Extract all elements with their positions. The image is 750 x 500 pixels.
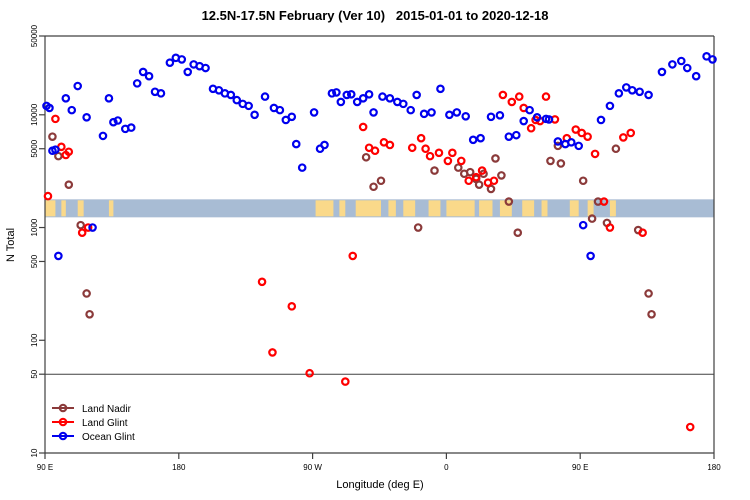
data-point (259, 279, 265, 285)
y-tick-label: 5000 (30, 139, 39, 157)
data-point (455, 164, 461, 170)
data-point (709, 56, 715, 62)
data-point (492, 155, 498, 161)
x-axis-label: Longitude (deg E) (336, 479, 423, 491)
data-point (659, 69, 665, 75)
land-mass (45, 200, 55, 216)
legend-label: Land Nadir (82, 404, 132, 415)
data-point (409, 145, 415, 151)
land-mass (610, 200, 616, 216)
data-point (342, 378, 348, 384)
data-point (436, 150, 442, 156)
data-point (589, 215, 595, 221)
data-point (431, 167, 437, 173)
y-tick-label: 50000 (30, 24, 39, 47)
data-point (366, 91, 372, 97)
data-point (558, 160, 564, 166)
data-point (299, 164, 305, 170)
data-point (628, 130, 634, 136)
data-point (620, 134, 626, 140)
data-point (458, 158, 464, 164)
land-mass (78, 200, 84, 216)
data-point (66, 149, 72, 155)
land-mass (403, 200, 415, 216)
land-mass (588, 200, 594, 216)
data-point (526, 107, 532, 113)
x-tick-label: 180 (707, 463, 721, 472)
data-point (289, 114, 295, 120)
data-point (63, 95, 69, 101)
data-point (477, 135, 483, 141)
data-point (543, 93, 549, 99)
data-point (363, 154, 369, 160)
data-point (45, 193, 51, 199)
data-point (498, 172, 504, 178)
data-point (491, 178, 497, 184)
land-mass (570, 200, 579, 216)
data-point (348, 91, 354, 97)
data-point (454, 109, 460, 115)
data-point (568, 139, 574, 145)
data-point (370, 109, 376, 115)
series-ocean-glint (43, 53, 715, 259)
data-point (413, 92, 419, 98)
data-point (592, 151, 598, 157)
y-tick-label: 10000 (30, 103, 39, 126)
data-point (428, 109, 434, 115)
data-point (251, 112, 257, 118)
data-point (687, 424, 693, 430)
data-point (185, 69, 191, 75)
land-mass (446, 200, 474, 216)
series-land-nadir (49, 133, 655, 317)
land-mass (339, 200, 345, 216)
data-point (228, 92, 234, 98)
data-point (506, 133, 512, 139)
data-point (684, 65, 690, 71)
data-point (576, 143, 582, 149)
data-point (446, 112, 452, 118)
data-point (79, 229, 85, 235)
data-point (678, 58, 684, 64)
data-point (77, 222, 83, 228)
data-point (636, 89, 642, 95)
data-point (75, 83, 81, 89)
data-point (146, 73, 152, 79)
data-point (52, 116, 58, 122)
data-point (245, 103, 251, 109)
data-point (387, 95, 393, 101)
data-point (629, 87, 635, 93)
data-point (370, 184, 376, 190)
data-point (333, 89, 339, 95)
data-point (427, 153, 433, 159)
y-axis-ticks: 1050100500100050001000050000 (30, 24, 45, 457)
x-tick-label: 90 W (303, 463, 322, 472)
data-point (306, 370, 312, 376)
data-point (693, 73, 699, 79)
data-point (415, 224, 421, 230)
data-point (311, 109, 317, 115)
land-mass (388, 200, 395, 216)
data-point (509, 99, 515, 105)
land-mass (61, 200, 65, 216)
data-point (639, 229, 645, 235)
data-point (321, 142, 327, 148)
data-point (100, 133, 106, 139)
land-mass (522, 200, 534, 216)
data-point (488, 114, 494, 120)
data-point (476, 181, 482, 187)
data-point (167, 59, 173, 65)
data-point (360, 124, 366, 130)
data-point (584, 133, 590, 139)
x-tick-label: 90 E (37, 463, 53, 472)
data-point (289, 303, 295, 309)
data-point (470, 137, 476, 143)
y-tick-label: 1000 (30, 218, 39, 236)
data-point (128, 124, 134, 130)
data-point (86, 311, 92, 317)
legend-label: Land Glint (82, 418, 128, 429)
data-point (645, 92, 651, 98)
land-mass (356, 200, 381, 216)
x-axis-ticks: 90 E18090 W090 E180 (37, 453, 721, 472)
data-point (89, 224, 95, 230)
data-point (49, 133, 55, 139)
data-point (422, 146, 428, 152)
data-point (387, 142, 393, 148)
y-axis-label: N Total (5, 228, 17, 262)
series-land-glint (45, 92, 694, 430)
data-point (55, 253, 61, 259)
data-point (179, 56, 185, 62)
data-point (115, 117, 121, 123)
data-point (513, 132, 519, 138)
data-point (262, 93, 268, 99)
data-point (500, 92, 506, 98)
y-tick-label: 10 (30, 448, 39, 457)
data-point (473, 174, 479, 180)
data-point (598, 117, 604, 123)
data-point (338, 99, 344, 105)
data-point (445, 158, 451, 164)
legend-label: Ocean Glint (82, 432, 135, 443)
data-point (66, 181, 72, 187)
data-point (580, 222, 586, 228)
data-point (69, 107, 75, 113)
land-mass (479, 200, 492, 216)
data-point (350, 253, 356, 259)
data-point (293, 141, 299, 147)
scatter-plot-figure: 12.5N-17.5N February (Ver 10) 2015-01-01… (0, 0, 750, 500)
land-ocean-map-strip (45, 199, 714, 217)
data-point (607, 224, 613, 230)
data-point (437, 86, 443, 92)
y-tick-label: 500 (30, 254, 39, 268)
data-point (134, 80, 140, 86)
data-point (83, 114, 89, 120)
data-point (269, 349, 275, 355)
y-tick-label: 50 (30, 369, 39, 378)
data-point (83, 290, 89, 296)
data-point (158, 90, 164, 96)
data-points (43, 53, 715, 430)
data-point (616, 90, 622, 96)
data-point (277, 107, 283, 113)
data-point (648, 311, 654, 317)
data-point (408, 107, 414, 113)
plot-canvas: 90 E18090 W090 E180 10501005001000500010… (0, 0, 750, 500)
land-mass (429, 200, 441, 216)
data-point (587, 253, 593, 259)
data-point (516, 93, 522, 99)
data-point (613, 146, 619, 152)
data-point (106, 95, 112, 101)
data-point (607, 103, 613, 109)
y-tick-label: 100 (30, 333, 39, 347)
data-point (378, 178, 384, 184)
data-point (379, 93, 385, 99)
data-point (497, 112, 503, 118)
land-mass (542, 200, 548, 216)
data-point (645, 290, 651, 296)
data-point (466, 178, 472, 184)
data-point (521, 118, 527, 124)
data-point (421, 111, 427, 117)
x-tick-label: 180 (172, 463, 186, 472)
x-tick-label: 90 E (572, 463, 588, 472)
data-point (467, 169, 473, 175)
data-point (418, 135, 424, 141)
data-point (372, 148, 378, 154)
data-point (202, 65, 208, 71)
data-point (400, 101, 406, 107)
legend: Land NadirLand GlintOcean Glint (52, 404, 135, 443)
x-tick-label: 0 (444, 463, 449, 472)
data-point (669, 61, 675, 67)
data-point (463, 113, 469, 119)
data-point (528, 125, 534, 131)
land-mass (316, 200, 334, 216)
land-mass (109, 200, 113, 216)
data-point (580, 178, 586, 184)
data-point (449, 150, 455, 156)
data-point (555, 138, 561, 144)
data-point (547, 158, 553, 164)
data-point (515, 229, 521, 235)
